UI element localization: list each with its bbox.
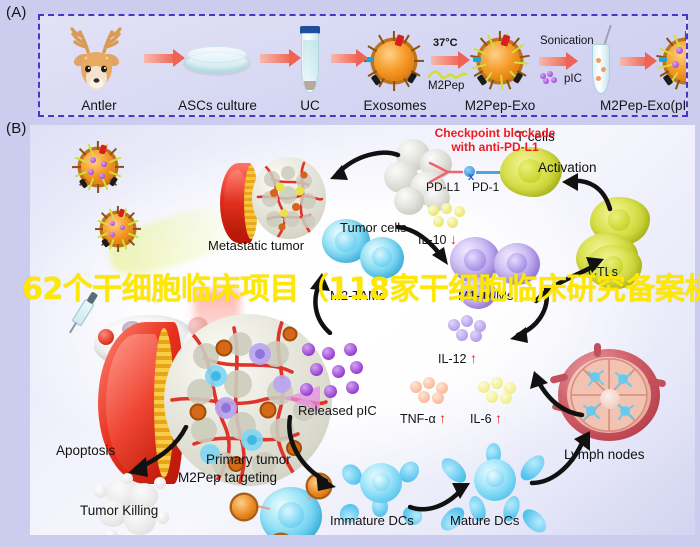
- arrow-sonication-to-product: [620, 57, 646, 66]
- immature-dc-icon: [346, 451, 416, 517]
- il12-label: IL-12 ↑: [438, 350, 477, 366]
- temperature-label: 37°C: [433, 37, 458, 49]
- exosome-icon: [363, 30, 425, 92]
- mature-dcs-label: Mature DCs: [450, 513, 519, 528]
- il6-cytokine-dots: [478, 377, 518, 403]
- activation-label: Activation: [538, 160, 597, 175]
- il10-label: IL-10 ↓: [418, 231, 457, 247]
- tumor-killing-label: Tumor Killing: [80, 503, 158, 518]
- checkpoint-blockade-label: Checkpoint blockade with anti-PD-L1: [400, 127, 590, 155]
- arrow-activation: [548, 171, 618, 220]
- tnfa-label: TNF-α ↑: [400, 410, 446, 426]
- il6-label: IL-6 ↑: [470, 410, 502, 426]
- scientific-figure: (A) (B): [0, 0, 700, 547]
- panel-a-letter: (A): [6, 4, 27, 21]
- centrifuge-tube-icon: [298, 26, 322, 96]
- step-label-ascs-culture: ASCs culture: [160, 98, 275, 113]
- tnfa-arrow: ↑: [439, 410, 446, 426]
- il12-name: IL-12: [438, 352, 467, 366]
- exosome-nanoparticle-2: [92, 203, 144, 255]
- arrow-pic-to-immature-dcs: [284, 415, 350, 500]
- panel-b-letter: (B): [6, 120, 27, 137]
- m2pep-label: M2Pep: [428, 80, 464, 92]
- blockade-x-icon: x: [468, 171, 474, 183]
- arrow-tumorcells-to-metastatic: [312, 147, 402, 200]
- metastatic-tumor-label: Metastatic tumor: [208, 238, 304, 253]
- arrow-uc-to-exosomes: [331, 54, 357, 63]
- arrow-exosomes-to-m2pepexo: [431, 56, 459, 65]
- il12-arrow: ↑: [470, 350, 477, 366]
- il6-arrow: ↑: [495, 410, 502, 426]
- immature-dcs-label: Immature DCs: [330, 513, 414, 528]
- il10-arrow: ↓: [450, 231, 457, 247]
- panel-a-synthesis-scheme: 37°C M2Pep: [38, 14, 688, 117]
- panel-b-mechanism-scheme: Metastatic tumor Tumor cells Checkpoint …: [30, 125, 695, 535]
- checkpoint-blockade-line2: with anti-PD-L1: [451, 140, 538, 154]
- arrow-lymphnode-to-cytokines: [520, 369, 590, 426]
- apoptosis-label: Apoptosis: [56, 443, 115, 458]
- peptide-exosome-icon: [464, 25, 536, 97]
- step-label-m2pep-exo: M2Pep-Exo: [445, 98, 555, 113]
- pdl1-label: PD-L1: [426, 180, 460, 194]
- arrow-antler-to-culture: [144, 54, 174, 63]
- petri-dish-lid-icon: [187, 46, 247, 63]
- deer-icon: [62, 22, 134, 94]
- checkpoint-blockade-line1: Checkpoint blockade: [435, 126, 556, 140]
- m2pep-targeting-label: M2Pep targeting: [178, 470, 277, 485]
- tnfa-cytokine-dots: [410, 377, 450, 403]
- targeting-exosome-1: [232, 495, 256, 519]
- pd1-receptor-stem: [476, 171, 500, 174]
- released-pic-dots: [300, 343, 364, 401]
- primary-tumor-label: Primary tumor: [206, 452, 291, 467]
- tumor-cells-label: Tumor cells: [340, 220, 407, 235]
- arrow-m2pepexo-to-loaded: [539, 57, 567, 66]
- step-label-uc: UC: [292, 98, 328, 113]
- exosome-nanoparticle-1: [68, 137, 128, 197]
- sonication-tube-icon: [586, 26, 616, 98]
- step-label-exosomes: Exosomes: [353, 98, 437, 113]
- watermark-text: 62个干细胞临床项目（118家干细胞临床研究备案机构）: [22, 264, 682, 308]
- pic-label: pIC: [564, 73, 582, 85]
- arrow-culture-to-uc: [260, 54, 290, 63]
- released-pic-label: Released pIC: [298, 403, 377, 418]
- pic-cluster-icon: [540, 71, 562, 85]
- il10-name: IL-10: [418, 233, 447, 247]
- step-label-m2pep-exo-pic: M2Pep-Exo(pIC): [600, 98, 688, 113]
- step-label-antler: Antler: [68, 98, 130, 113]
- il6-name: IL-6: [470, 412, 492, 426]
- lymph-nodes-label: Lymph nodes: [564, 447, 645, 462]
- tnfa-name: TNF-α: [400, 412, 436, 426]
- pd1-label: PD-1: [472, 180, 499, 194]
